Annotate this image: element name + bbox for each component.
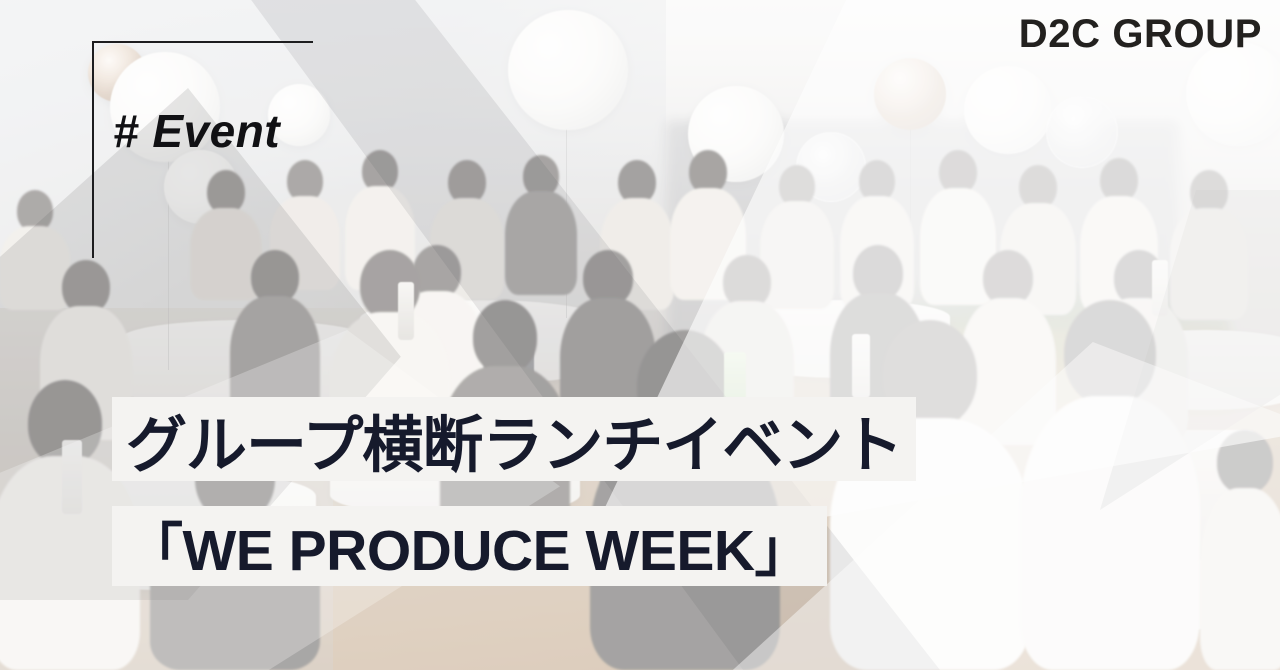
headline-line-1: グループ横断ランチイベント	[112, 397, 916, 481]
brand-logo: D2C GROUP	[1019, 14, 1262, 54]
category-tag: # Event	[113, 108, 280, 154]
headline-line-2: 「WE PRODUCE WEEK」	[112, 506, 827, 586]
event-banner: # Event D2C GROUP グループ横断ランチイベント 「WE PROD…	[0, 0, 1280, 670]
corner-frame-vertical-rule	[92, 41, 94, 258]
corner-frame-horizontal-rule	[92, 41, 313, 43]
